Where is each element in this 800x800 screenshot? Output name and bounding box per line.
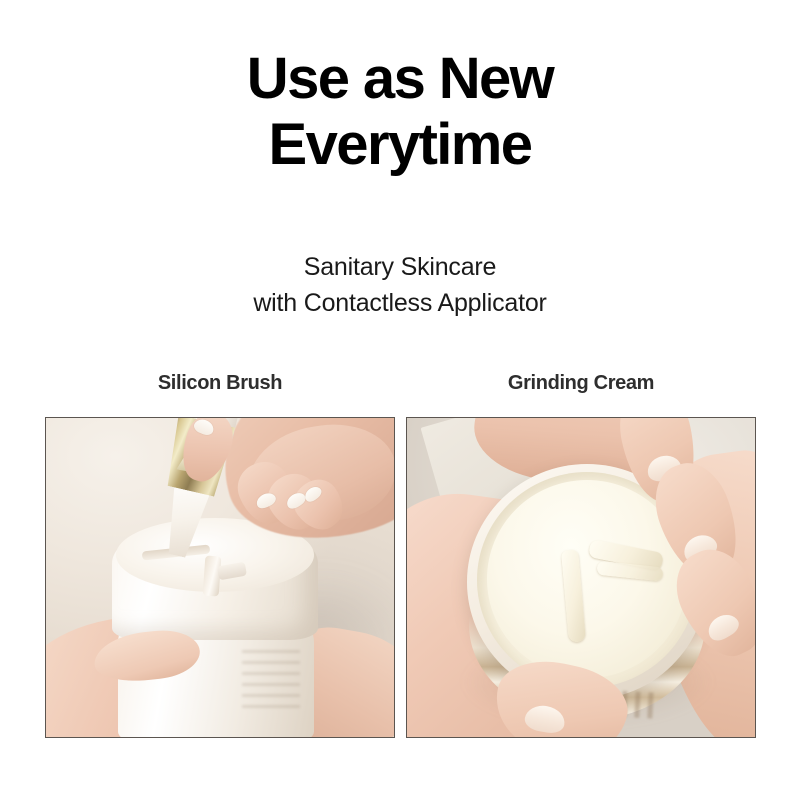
caption-grinding-cream: Grinding Cream (406, 372, 756, 395)
promo-page: Use as New Everytime Sanitary Skincare w… (0, 0, 800, 800)
photo-grinding-cream-scene (407, 418, 755, 737)
photo-grinding-cream (406, 417, 756, 738)
photo-silicon-brush-scene (46, 418, 394, 737)
headline-line-1: Use as New (0, 46, 800, 112)
subtitle-line-2: with Contactless Applicator (0, 286, 800, 322)
cream-jar-brand-text (242, 650, 300, 712)
photo-silicon-brush (45, 417, 395, 738)
headline-line-2: Everytime (0, 112, 800, 178)
caption-silicon-brush: Silicon Brush (45, 372, 395, 395)
subtitle-line-1: Sanitary Skincare (0, 250, 800, 286)
page-subtitle: Sanitary Skincare with Contactless Appli… (0, 250, 800, 321)
page-title: Use as New Everytime (0, 46, 800, 178)
